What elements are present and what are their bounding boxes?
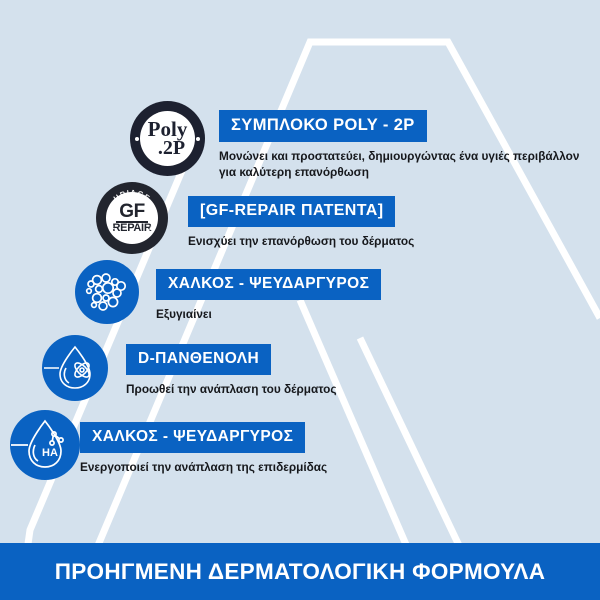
svg-text:URIAGE: URIAGE bbox=[112, 188, 153, 203]
gf-repair-seal-icon: URIAGE LICENSE • PATENT GF REPAIR bbox=[96, 182, 168, 254]
gf-arc-bottom-text: LICENSE • PATENT bbox=[106, 222, 157, 244]
ingredient-desc-poly-2p: Μονώνει και προστατεύει, δημιουργώντας έ… bbox=[219, 149, 591, 181]
molecule-cluster-icon bbox=[75, 260, 139, 324]
footer-banner: ΠΡΟΗΓΜΕΝΗ ΔΕΡΜΑΤΟΛΟΓΙΚΗ ΦΟΡΜΟΥΛΑ bbox=[0, 543, 600, 600]
seal-dot-right bbox=[196, 137, 200, 141]
infographic-poster: Poly .2P ΣΥΜΠΛΟΚΟ POLY - 2P Μονώνει και … bbox=[0, 0, 600, 600]
droplet-atom-icon bbox=[42, 335, 108, 401]
ingredient-desc-copper-zinc-bottom: Ενεργοποιεί την ανάπλαση της επιδερμίδας bbox=[80, 460, 500, 476]
footer-banner-text: ΠΡΟΗΓΜΕΝΗ ΔΕΡΜΑΤΟΛΟΓΙΚΗ ΦΟΡΜΟΥΛΑ bbox=[55, 559, 546, 585]
droplet-ha-label: HA bbox=[42, 447, 58, 459]
poly-2p-seal-icon: Poly .2P bbox=[130, 101, 205, 176]
ingredient-title-d-panthenol: D-ΠΑΝΘΕΝΟΛΗ bbox=[126, 344, 271, 375]
ingredient-title-poly-2p: ΣΥΜΠΛΟΚΟ POLY - 2P bbox=[219, 110, 427, 142]
seal-dot-left bbox=[135, 137, 139, 141]
ingredient-title-gf-repair: [GF-REPAIR ΠΑΤΕΝΤΑ] bbox=[188, 196, 395, 227]
ingredient-title-copper-zinc-top: ΧΑΛΚΟΣ - ΨΕΥΔΑΡΓΥΡΟΣ bbox=[156, 269, 381, 300]
droplet-ha-icon: HA bbox=[10, 410, 80, 480]
poly-seal-text-bottom: .2P bbox=[158, 139, 185, 157]
ingredient-title-copper-zinc-bottom: ΧΑΛΚΟΣ - ΨΕΥΔΑΡΓΥΡΟΣ bbox=[80, 422, 305, 453]
svg-text:LICENSE • PATENT: LICENSE • PATENT bbox=[106, 222, 157, 244]
ingredient-desc-d-panthenol: Προωθεί την ανάπλαση του δέρματος bbox=[126, 382, 526, 398]
ingredient-desc-copper-zinc-top: Εξυγιαίνει bbox=[156, 307, 556, 323]
ingredient-desc-gf-repair: Ενισχύει την επανόρθωση του δέρματος bbox=[188, 234, 568, 250]
gf-arc-top-text: URIAGE bbox=[112, 188, 153, 203]
gf-seal-arc-text: URIAGE LICENSE • PATENT bbox=[96, 182, 168, 254]
